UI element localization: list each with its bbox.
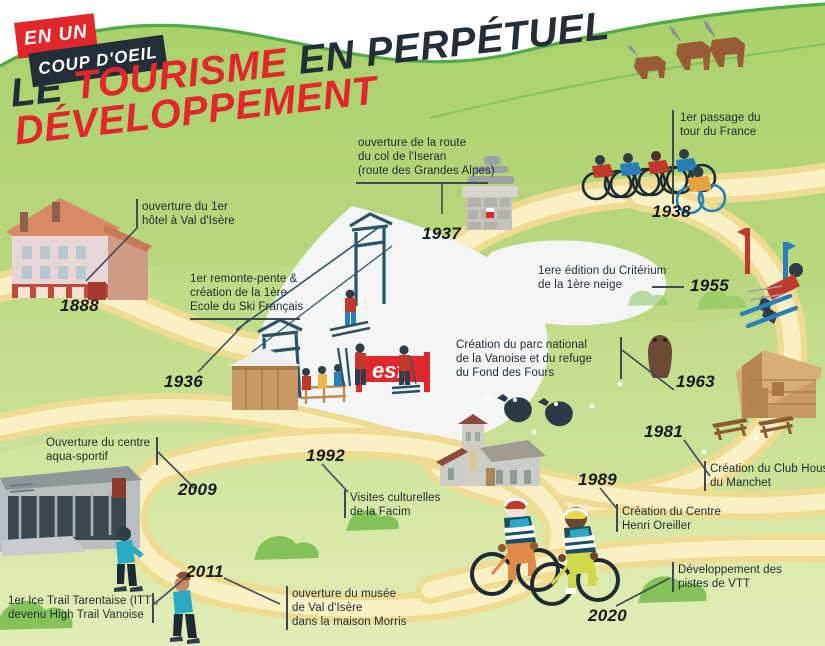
leader-1963 [618, 348, 680, 396]
tick-1888 [136, 199, 138, 227]
year-1938: 1938 [652, 202, 691, 222]
label-1963: Création du parc national de la Vanoise … [456, 338, 592, 381]
tick-1937 [356, 182, 488, 184]
leader-1992 [320, 462, 354, 496]
year-1936: 1936 [164, 372, 203, 392]
year-2020: 2020 [588, 606, 627, 626]
infographic-root: esf [0, 0, 825, 646]
leader-1936 [180, 318, 260, 376]
year-1963: 1963 [676, 372, 715, 392]
label-1955: 1ere édition du Critérium de la 1ère nei… [538, 264, 666, 292]
leader-1888 [80, 225, 150, 285]
label-2011-museum: ouverture du musée de Val d'Isère dans l… [292, 587, 407, 630]
label-1981: Création du Club House du Manchet [710, 462, 825, 490]
label-1989: Création du Centre Henri Oreiller [622, 505, 721, 533]
label-2011-itt: 1er Ice Trail Tarentaise (ITT), devenu H… [8, 594, 159, 622]
label-1937: ouverture de la route du col de l'Iseran… [358, 136, 495, 179]
leader-1937 [432, 182, 452, 216]
tick-1989 [616, 504, 618, 532]
tick-1938 [672, 110, 674, 204]
year-2009: 2009 [178, 480, 217, 500]
year-1888: 1888 [60, 296, 99, 316]
tick-2011-museum [286, 586, 288, 630]
year-1955: 1955 [690, 276, 729, 296]
tick-1981 [704, 461, 706, 491]
tick-1992 [344, 490, 346, 518]
label-2020: Développement des pistes de VTT [678, 563, 782, 591]
leader-2020 [614, 576, 676, 610]
year-1981: 1981 [644, 422, 683, 442]
label-1992: Visites culturelles de la Facim [350, 491, 441, 519]
label-1936: 1er remonte-pente & création de la 1ère … [190, 272, 303, 315]
label-1888: ouverture du 1er hôtel à Val d'Isère [142, 200, 235, 228]
year-2011: 2011 [186, 562, 224, 582]
leader-2011-museum [222, 576, 286, 608]
label-1938: 1er passage du tour du France [680, 111, 761, 139]
label-2009: Ouverture du centre aqua-sportif [46, 436, 150, 464]
year-1937: 1937 [422, 224, 461, 244]
tick-1955 [652, 286, 684, 288]
leader-1989 [598, 486, 624, 514]
